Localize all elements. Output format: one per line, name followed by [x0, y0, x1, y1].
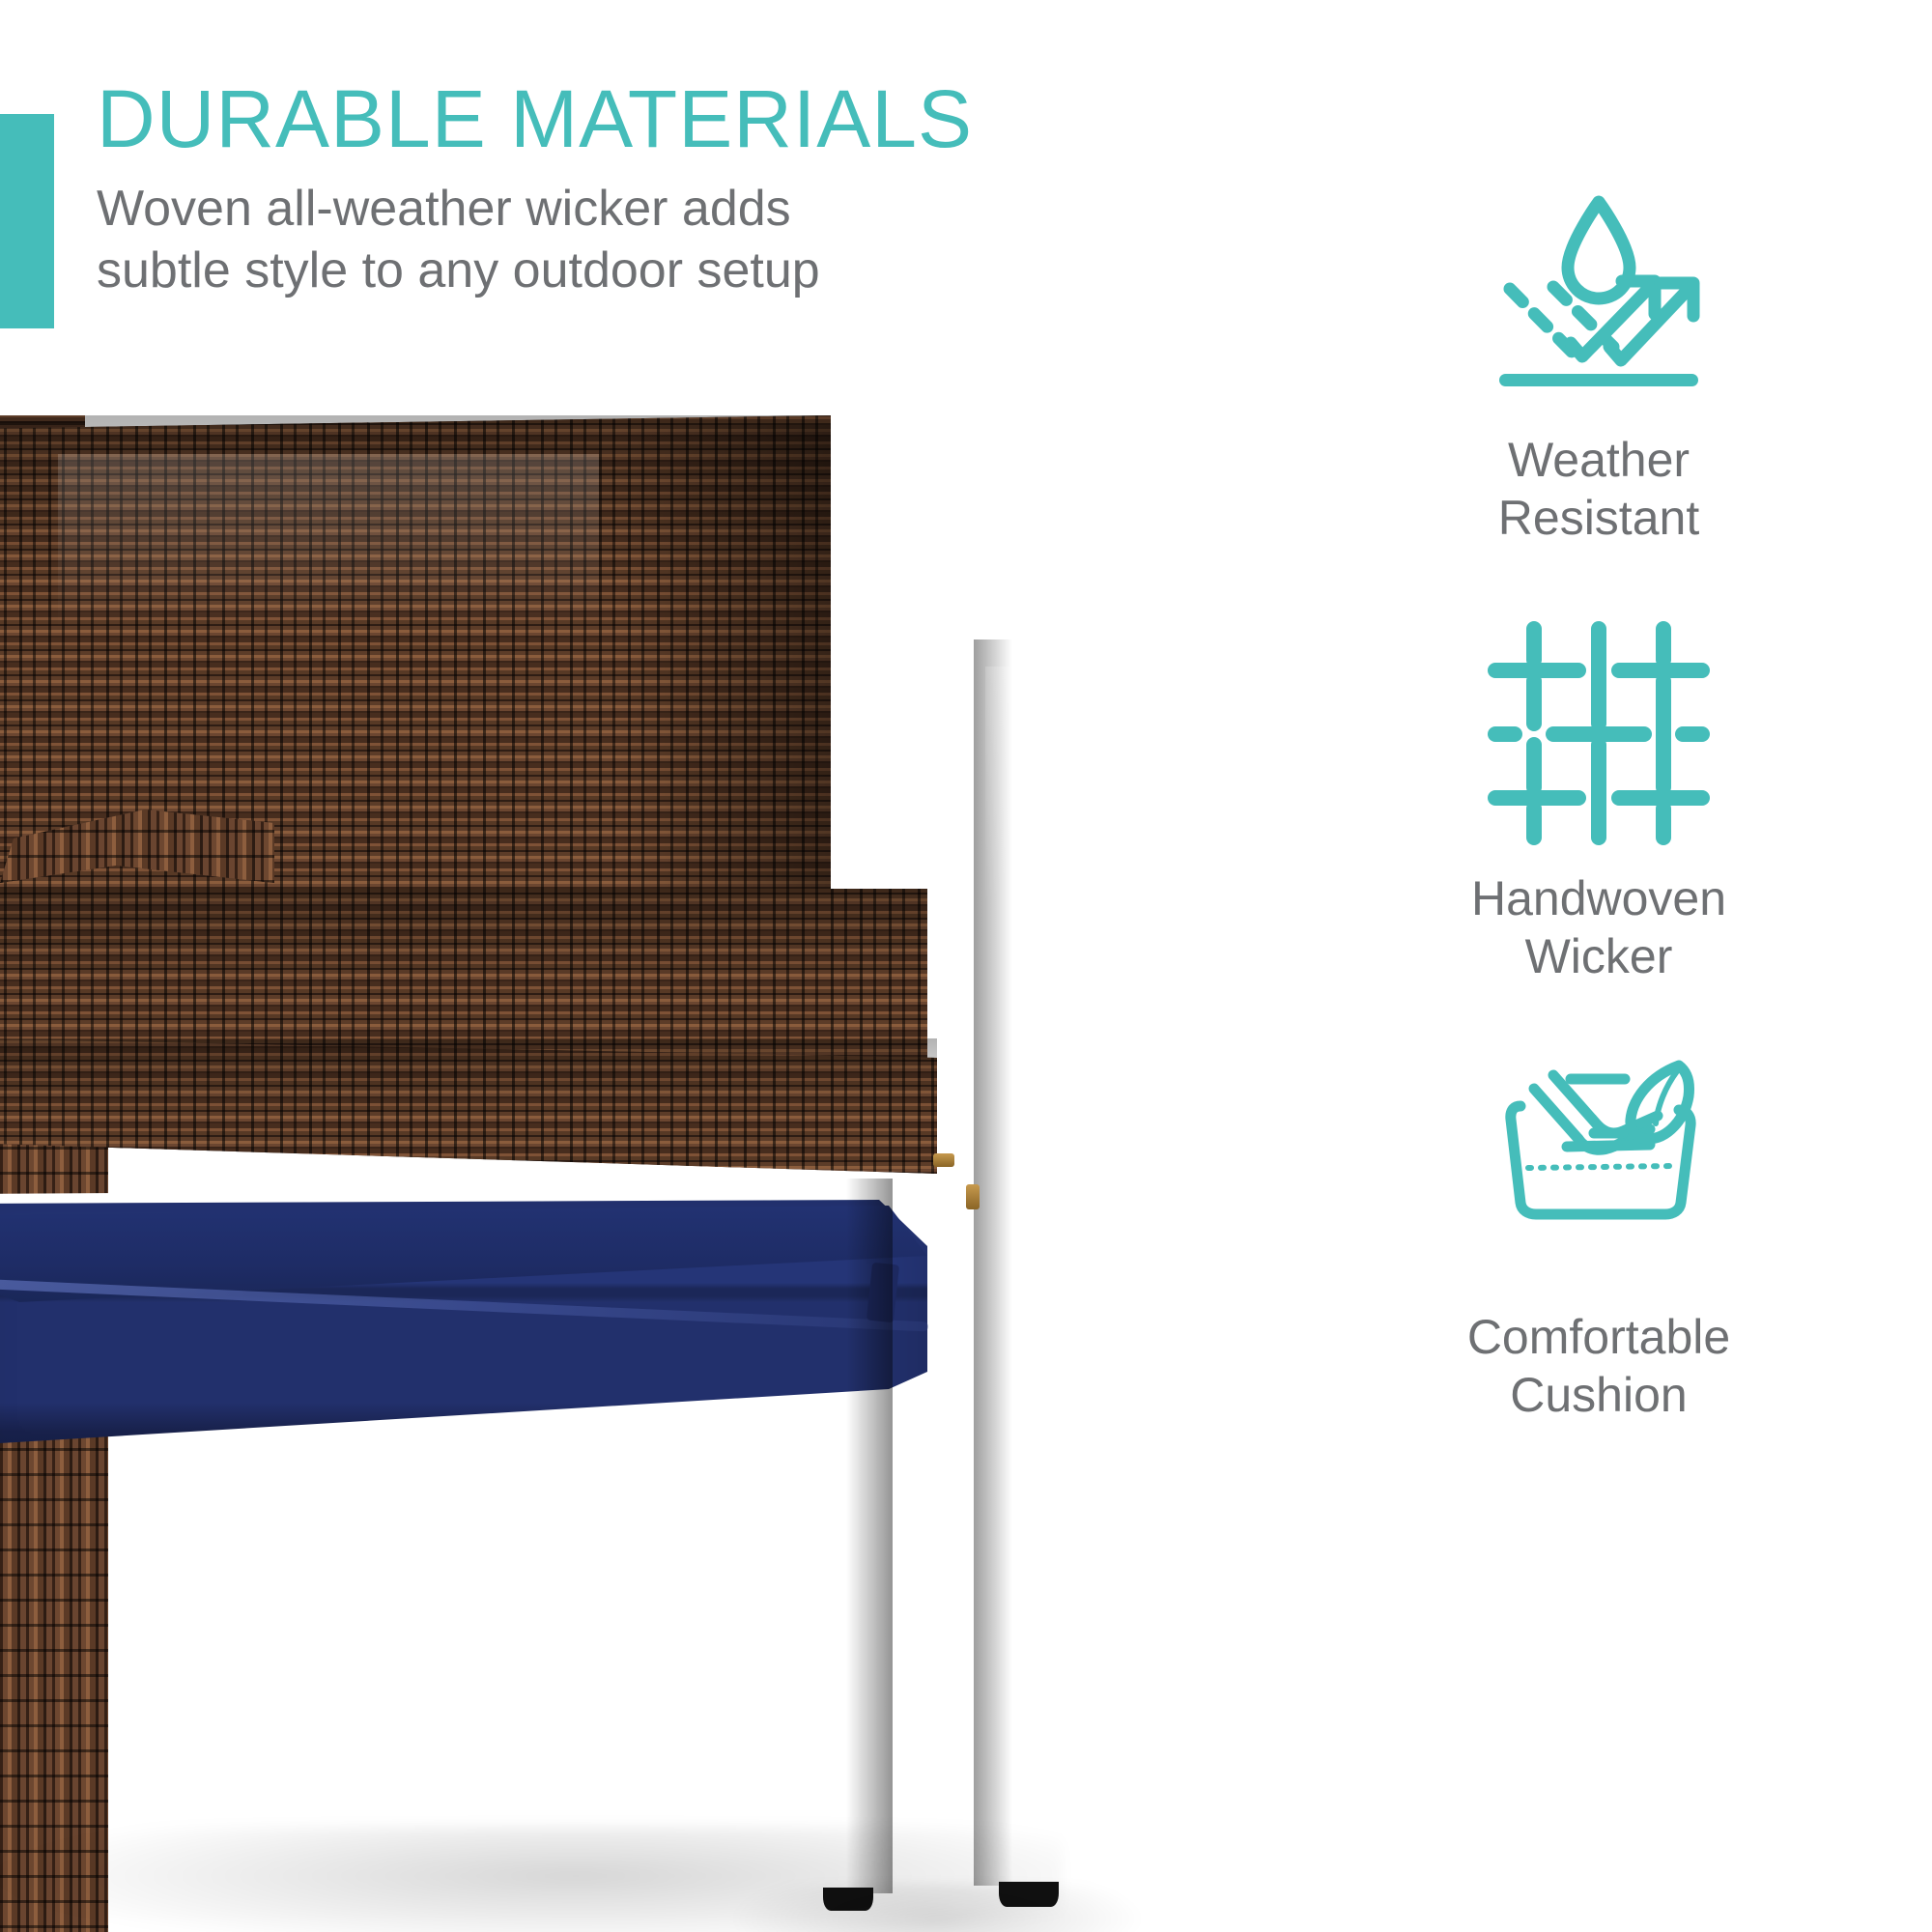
feature-handwoven-wicker: Handwoven Wicker	[1372, 603, 1826, 985]
feature-label-line-1: Handwoven	[1372, 869, 1826, 927]
frame-hinge-lower	[966, 1184, 980, 1209]
water-droplet-repel-icon	[1372, 164, 1826, 423]
seat-frame-shading	[0, 889, 927, 976]
woven-lattice-icon	[1372, 603, 1826, 862]
feature-label-line-1: Weather	[1372, 431, 1826, 489]
hand-pressing-cushion-feather-icon	[1372, 1041, 1826, 1300]
frame-hinge-upper	[933, 1153, 954, 1167]
armpost-gloss	[985, 667, 1053, 1072]
backrest-gloss	[58, 454, 599, 744]
feature-label-line-2: Cushion	[1372, 1366, 1826, 1424]
product-feature-graphic: DURABLE MATERIALS Woven all-weather wick…	[0, 0, 1932, 1932]
floor-shadow-right	[734, 1884, 1140, 1932]
feature-weather-resistant: Weather Resistant	[1372, 164, 1826, 547]
rear-leg-shading	[846, 1179, 893, 1893]
page-title: DURABLE MATERIALS	[97, 77, 1256, 160]
header-text-block: DURABLE MATERIALS Woven all-weather wick…	[97, 77, 1256, 301]
backrest-right-shading	[618, 425, 831, 889]
page-subtitle-line-1: Woven all-weather wicker adds	[97, 178, 1256, 240]
page-subtitle: Woven all-weather wicker adds subtle sty…	[97, 178, 1256, 301]
apron-shading	[0, 1038, 937, 1106]
feature-list: Weather Resistant	[1372, 164, 1826, 1480]
product-photo	[0, 415, 1333, 1932]
page-subtitle-line-2: subtle style to any outdoor setup	[97, 240, 1256, 301]
feature-label-line-2: Resistant	[1372, 489, 1826, 547]
feature-label-weather-resistant: Weather Resistant	[1372, 431, 1826, 547]
feature-label-line-1: Comfortable	[1372, 1308, 1826, 1366]
feature-comfortable-cushion: Comfortable Cushion	[1372, 1041, 1826, 1424]
teal-accent-bar	[0, 114, 54, 328]
feature-label-line-2: Wicker	[1372, 927, 1826, 985]
feature-label-handwoven-wicker: Handwoven Wicker	[1372, 869, 1826, 985]
feature-label-comfortable-cushion: Comfortable Cushion	[1372, 1308, 1826, 1424]
